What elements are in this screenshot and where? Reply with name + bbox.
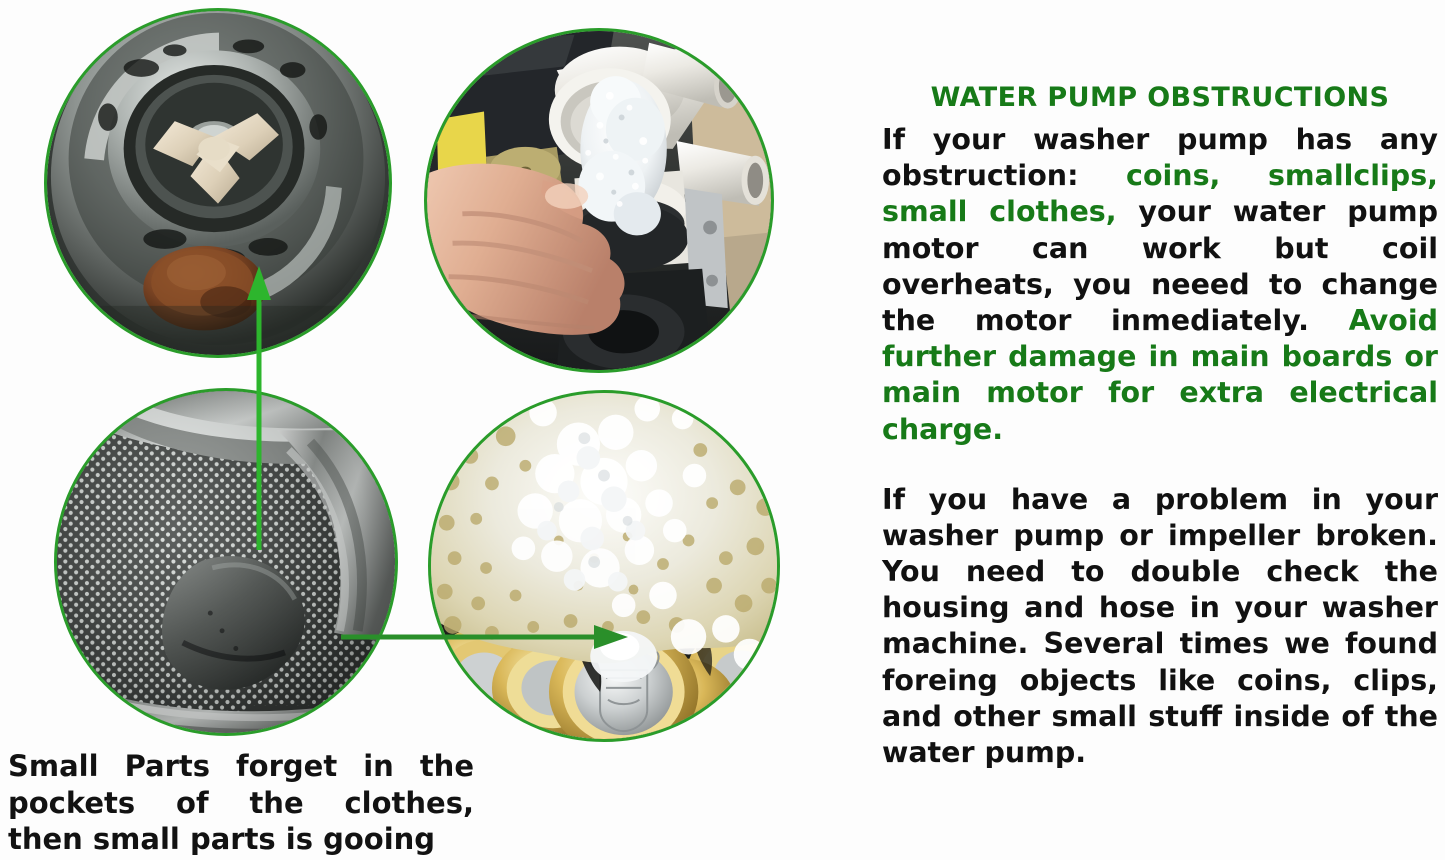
washer-drum-photo	[57, 391, 395, 733]
photo-circle-lint-housing	[424, 28, 774, 373]
photo-circle-washer-drum	[54, 388, 398, 736]
infographic-page: Small Parts forget in the pockets of the…	[0, 0, 1445, 860]
foam-coins-photo	[431, 393, 777, 739]
photo-circle-pump-impeller	[44, 8, 392, 358]
lint-housing-photo	[427, 31, 771, 370]
caption-line-1: Small Parts forget in the	[8, 748, 474, 785]
pump-impeller-photo	[47, 11, 389, 355]
left-photo-caption: Small Parts forget in the pockets of the…	[8, 748, 474, 858]
photo-collage	[0, 0, 860, 860]
photo-circle-foam-coins	[428, 390, 780, 742]
right-text-column: WATER PUMP OBSTRUCTIONS If your washer p…	[882, 0, 1438, 860]
paragraph-obstructions: If your washer pump has any obstruction:…	[882, 122, 1438, 448]
caption-line-2: pockets of the clothes,	[8, 785, 474, 822]
caption-line-3: then small parts is gooing	[8, 821, 474, 858]
paragraph-inspection: If you have a problem in your washer pum…	[882, 482, 1438, 772]
page-title: WATER PUMP OBSTRUCTIONS	[882, 0, 1438, 113]
